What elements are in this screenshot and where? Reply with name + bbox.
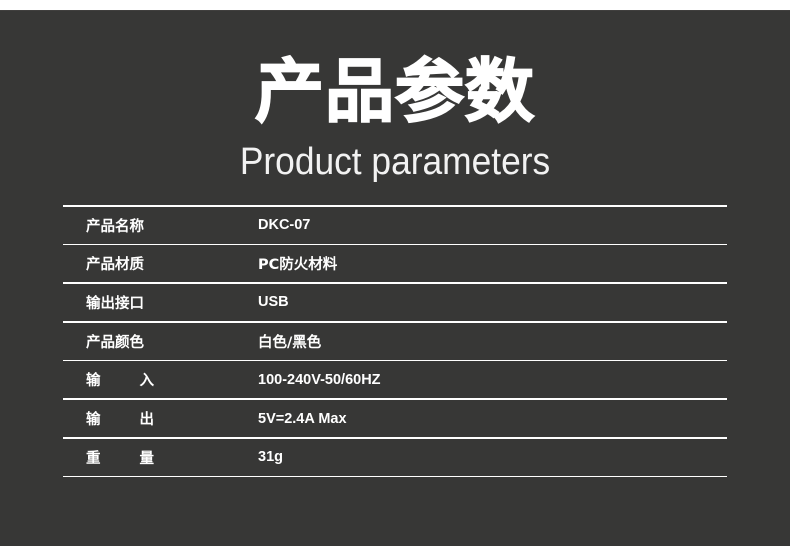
table-row: 产品材质PC防火材料 [63,245,727,282]
spec-label-part: 输 [86,408,101,429]
spec-label-part: 重 [86,447,101,468]
spec-label: 输出 [86,400,154,437]
panel-top-hairline [0,10,790,11]
spec-value: 100-240V-50/60HZ [258,361,381,398]
spec-value: 5V=2.4A Max [258,400,347,437]
spec-label: 产品颜色 [86,323,144,360]
spec-label-part: 入 [140,369,155,390]
table-row: 产品名称DKC-07 [63,207,727,244]
spec-label-part: 输 [86,369,101,390]
spec-value: 白色/黑色 [258,323,321,360]
spec-value: DKC-07 [258,207,310,244]
table-row: 重量31g [63,439,727,476]
spec-label-part: 量 [140,447,155,468]
page-title-en: Product parameters [28,138,763,186]
spec-label: 重量 [86,439,154,476]
spec-label-part: 出 [140,408,155,429]
table-row: 输出接口USB [63,284,727,321]
spec-label: 产品材质 [86,245,144,282]
table-divider [63,476,727,478]
spec-label: 输入 [86,361,154,398]
spec-table: 产品名称DKC-07产品材质PC防火材料输出接口USB产品颜色白色/黑色输入10… [63,205,727,477]
page-title-cn: 产品参数 [0,50,790,134]
spec-label: 输出接口 [86,284,144,321]
spec-value: PC防火材料 [258,245,337,282]
spec-label: 产品名称 [86,207,144,244]
table-row: 输入100-240V-50/60HZ [63,361,727,398]
table-row: 产品颜色白色/黑色 [63,323,727,360]
spec-value: 31g [258,439,283,476]
dark-panel: 产品参数 Product parameters 产品名称DKC-07产品材质PC… [0,10,790,546]
table-row: 输出5V=2.4A Max [63,400,727,437]
top-white-strip [0,0,790,10]
spec-value: USB [258,284,289,321]
product-parameters-page: 产品参数 Product parameters 产品名称DKC-07产品材质PC… [0,0,790,546]
